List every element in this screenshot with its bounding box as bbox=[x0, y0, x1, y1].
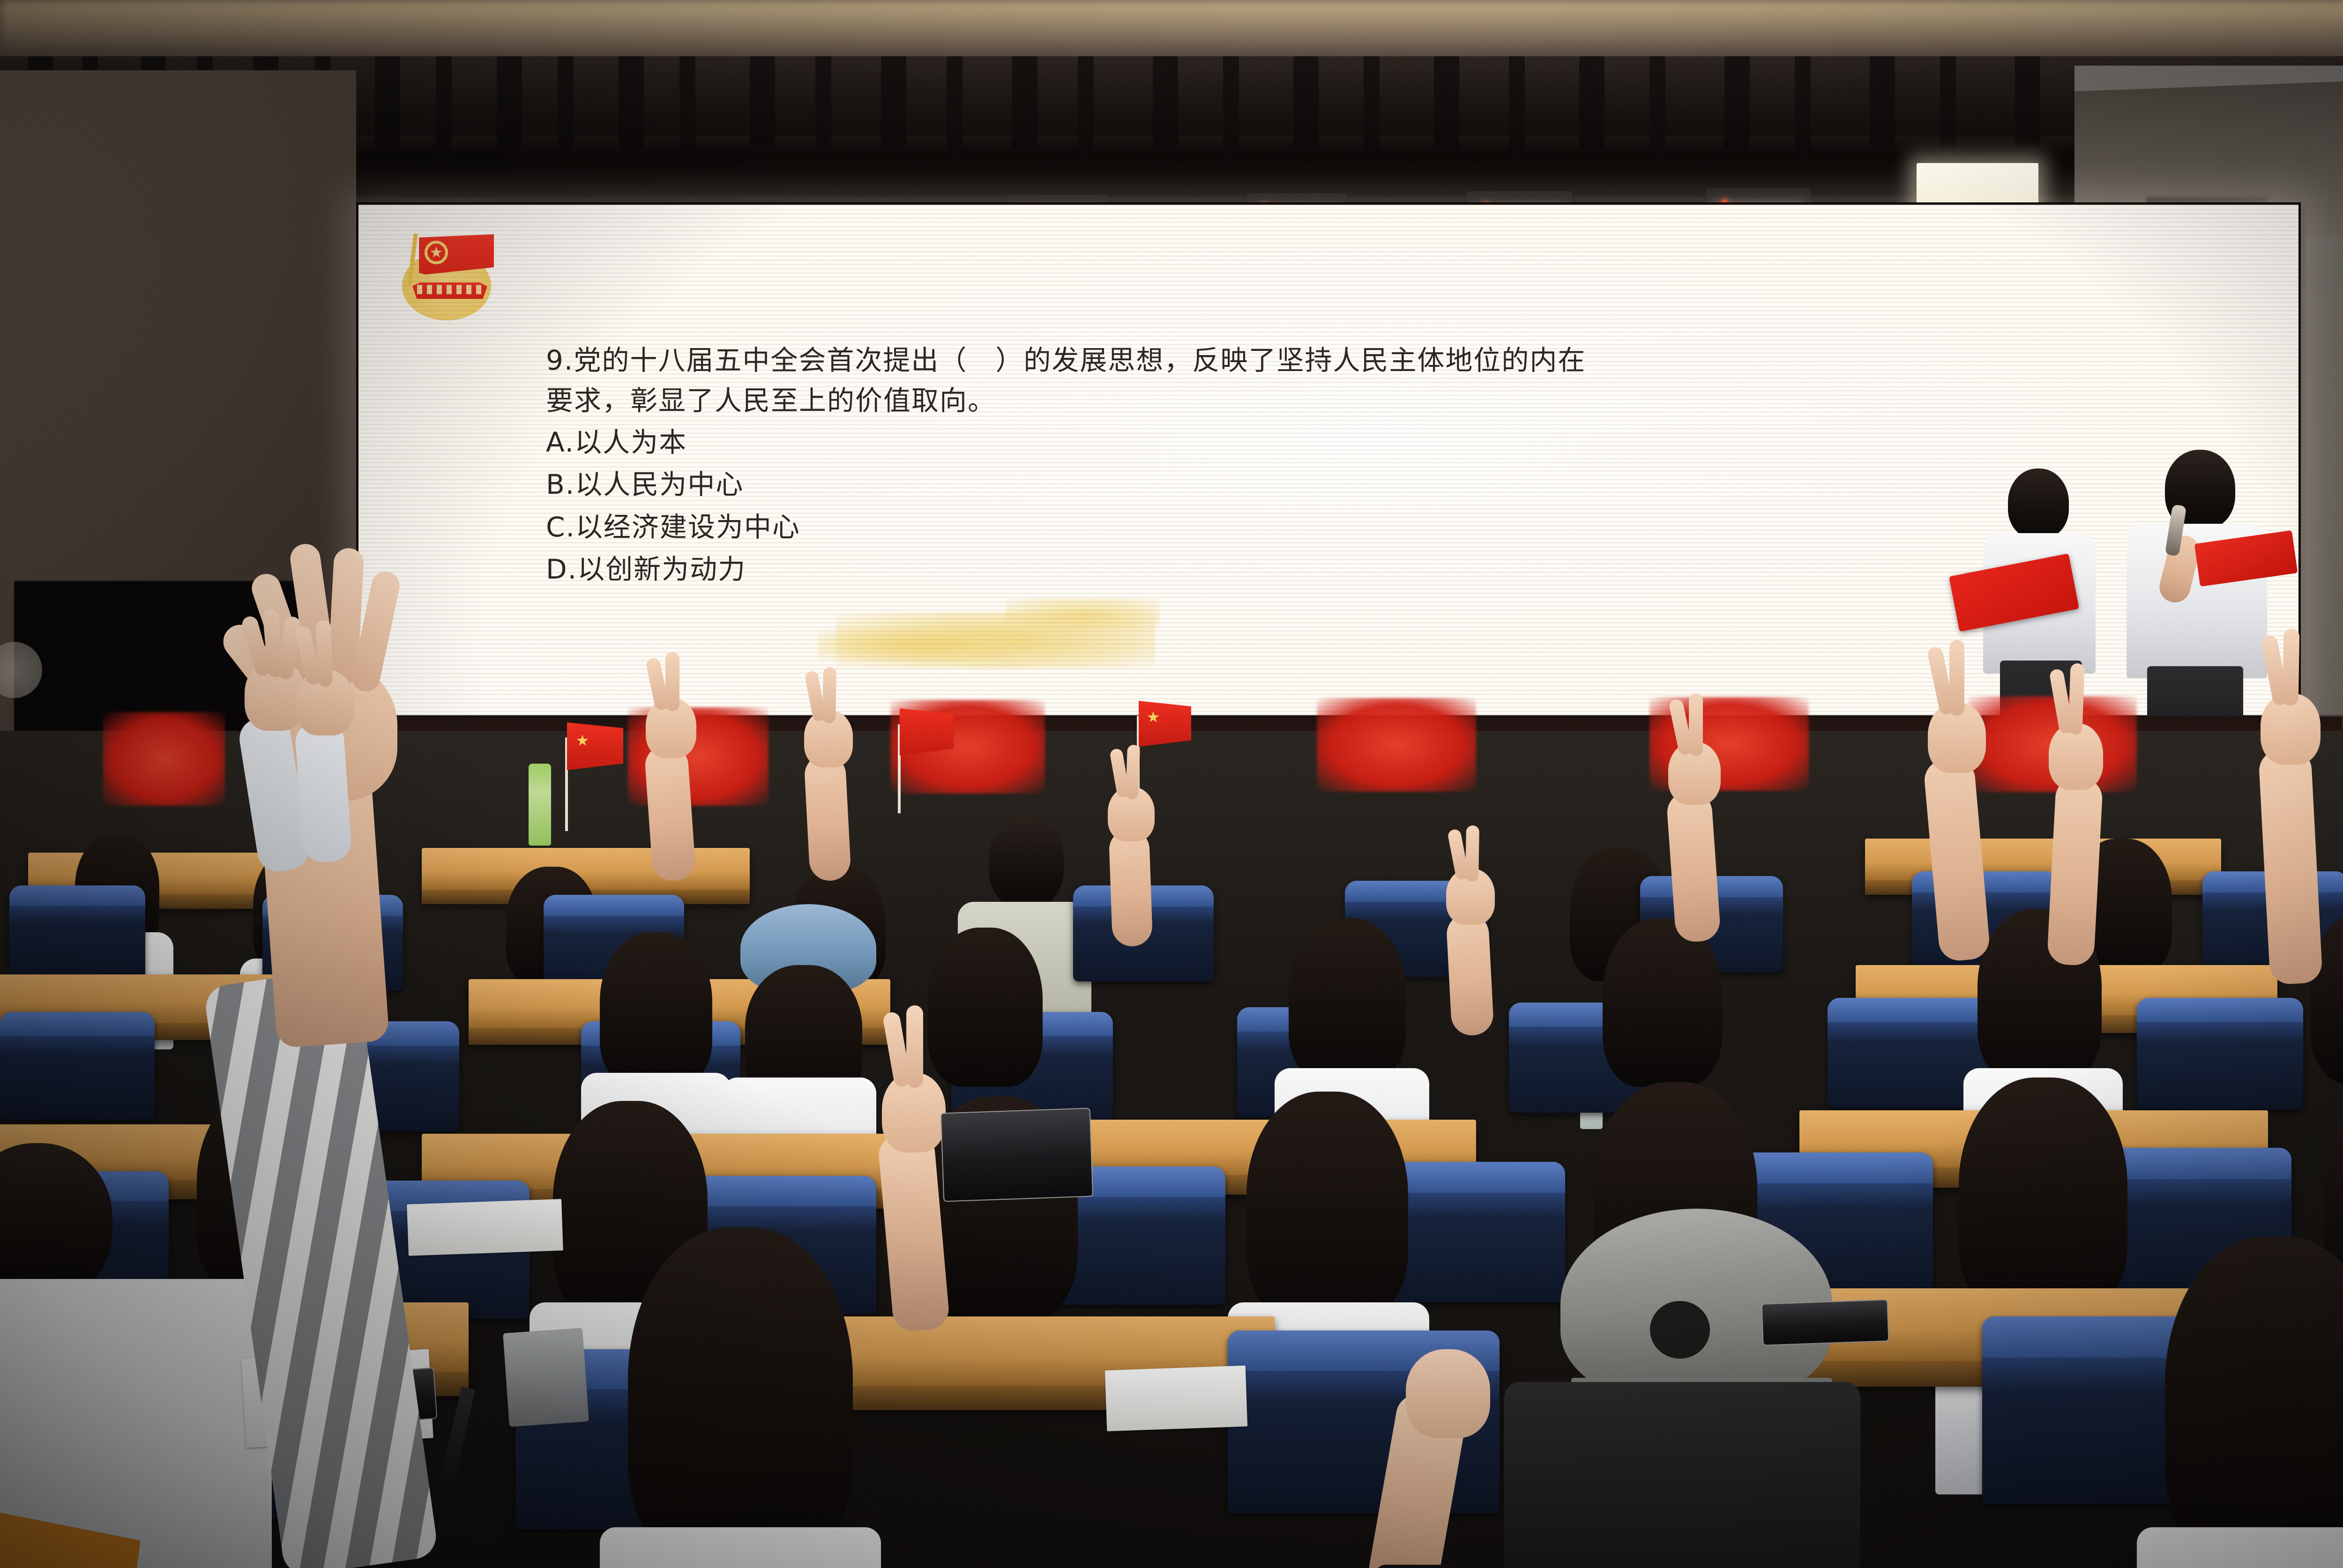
truss-hanger bbox=[1940, 56, 1956, 164]
seat bbox=[2137, 998, 2303, 1109]
truss-hanger bbox=[1724, 56, 1750, 148]
smartphone bbox=[1761, 1299, 1889, 1345]
student-hair bbox=[1603, 918, 1722, 1087]
finger bbox=[1126, 745, 1140, 800]
student-hair bbox=[1289, 918, 1406, 1082]
desk-accessory bbox=[503, 1328, 589, 1427]
finger bbox=[906, 1005, 923, 1088]
forearm bbox=[1923, 757, 1991, 962]
student-shirt bbox=[600, 1527, 881, 1568]
finger bbox=[316, 620, 333, 687]
ceiling-light-wash bbox=[0, 0, 2343, 56]
seat bbox=[9, 885, 145, 979]
smartphone-recording bbox=[940, 1107, 1093, 1202]
truss-hanger bbox=[750, 56, 775, 148]
desk-flag-cluster bbox=[1317, 698, 1476, 792]
truss-hanger bbox=[1870, 56, 1895, 148]
desk-flag bbox=[1139, 701, 1191, 747]
truss-hanger bbox=[558, 56, 574, 164]
truss-hanger bbox=[815, 56, 831, 164]
truss-hanger bbox=[1579, 56, 1604, 148]
forearm bbox=[2047, 777, 2104, 966]
truss-hanger bbox=[679, 56, 695, 164]
truss-hanger bbox=[2015, 56, 2040, 148]
forearm bbox=[877, 1132, 950, 1333]
raised-hand bbox=[1429, 829, 1514, 1035]
truss-hanger bbox=[1223, 56, 1239, 164]
student-hand bbox=[1406, 1349, 1490, 1438]
truss-hanger bbox=[1012, 56, 1037, 148]
truss-hanger bbox=[436, 56, 452, 164]
question-line-2: 要求，彰显了人民至上的价值取向。 bbox=[546, 381, 2247, 421]
truss-hanger bbox=[375, 56, 400, 148]
truss-hanger bbox=[947, 56, 963, 164]
paper-sheet bbox=[1105, 1366, 1247, 1431]
seat bbox=[0, 1012, 155, 1120]
slide-cloud-decoration bbox=[1005, 598, 1160, 631]
desk-flag bbox=[567, 722, 623, 770]
desk-flag bbox=[900, 708, 954, 755]
forearm bbox=[1109, 829, 1153, 947]
raised-hand bbox=[2240, 628, 2343, 984]
student-shirt bbox=[2137, 1527, 2343, 1568]
striped-sleeve bbox=[203, 966, 439, 1568]
communist-youth-league-emblem-icon bbox=[398, 230, 499, 324]
truss-hanger bbox=[1364, 56, 1380, 164]
raised-hand bbox=[1092, 750, 1171, 946]
student-hair bbox=[600, 932, 712, 1087]
raised-hand bbox=[1649, 698, 1743, 942]
raised-hand bbox=[276, 623, 380, 857]
finger bbox=[822, 667, 836, 723]
presenter-head bbox=[2008, 468, 2069, 539]
cap-vent-hole bbox=[1650, 1301, 1710, 1359]
raised-hand bbox=[1907, 642, 2010, 960]
truss-hanger bbox=[1795, 56, 1811, 164]
student-hair bbox=[2165, 1237, 2343, 1565]
raised-hand bbox=[787, 670, 872, 876]
sleeve bbox=[294, 720, 353, 864]
truss-hanger bbox=[1434, 56, 1459, 148]
photo-scene: 9.党的十八届五中全会首次提出（ ）的发展思想，反映了坚持人民主体地位的内在 要… bbox=[0, 0, 2343, 1568]
student-hair bbox=[1959, 1078, 2127, 1316]
forearm bbox=[1446, 913, 1494, 1036]
finger bbox=[665, 652, 679, 711]
truss-hanger bbox=[619, 56, 644, 148]
truss-hanger bbox=[497, 56, 522, 148]
finger bbox=[1949, 640, 1964, 716]
finger bbox=[2283, 629, 2300, 706]
raised-hand bbox=[2029, 665, 2123, 965]
student-head bbox=[989, 815, 1064, 909]
wrist-bracelet bbox=[1375, 1565, 1460, 1568]
truss-hanger bbox=[1509, 56, 1525, 164]
pen bbox=[439, 1386, 476, 1490]
forearm bbox=[1666, 790, 1721, 943]
finger bbox=[2068, 663, 2084, 735]
student-hair bbox=[628, 1227, 853, 1565]
student-hair bbox=[1246, 1092, 1408, 1321]
truss-hanger bbox=[881, 56, 906, 148]
forearm bbox=[804, 753, 851, 882]
slide-cloud-decoration bbox=[818, 629, 1015, 661]
truss-hanger bbox=[1293, 56, 1319, 148]
water-bottle bbox=[529, 764, 551, 846]
truss-hanger bbox=[1078, 56, 1094, 164]
truss-hanger bbox=[1153, 56, 1178, 148]
finger bbox=[1689, 693, 1703, 756]
question-line-1: 9.党的十八届五中全会首次提出（ ）的发展思想，反映了坚持人民主体地位的内在 bbox=[546, 341, 2247, 381]
raised-hand bbox=[628, 656, 717, 876]
option-a: A.以人为本 bbox=[546, 421, 2247, 463]
finger bbox=[1465, 825, 1479, 882]
forearm bbox=[644, 743, 696, 882]
raised-hand-with-phone bbox=[862, 1003, 970, 1330]
forearm bbox=[2258, 748, 2323, 985]
student-shirt-dark bbox=[1504, 1382, 1860, 1568]
truss-hanger bbox=[1649, 56, 1665, 164]
